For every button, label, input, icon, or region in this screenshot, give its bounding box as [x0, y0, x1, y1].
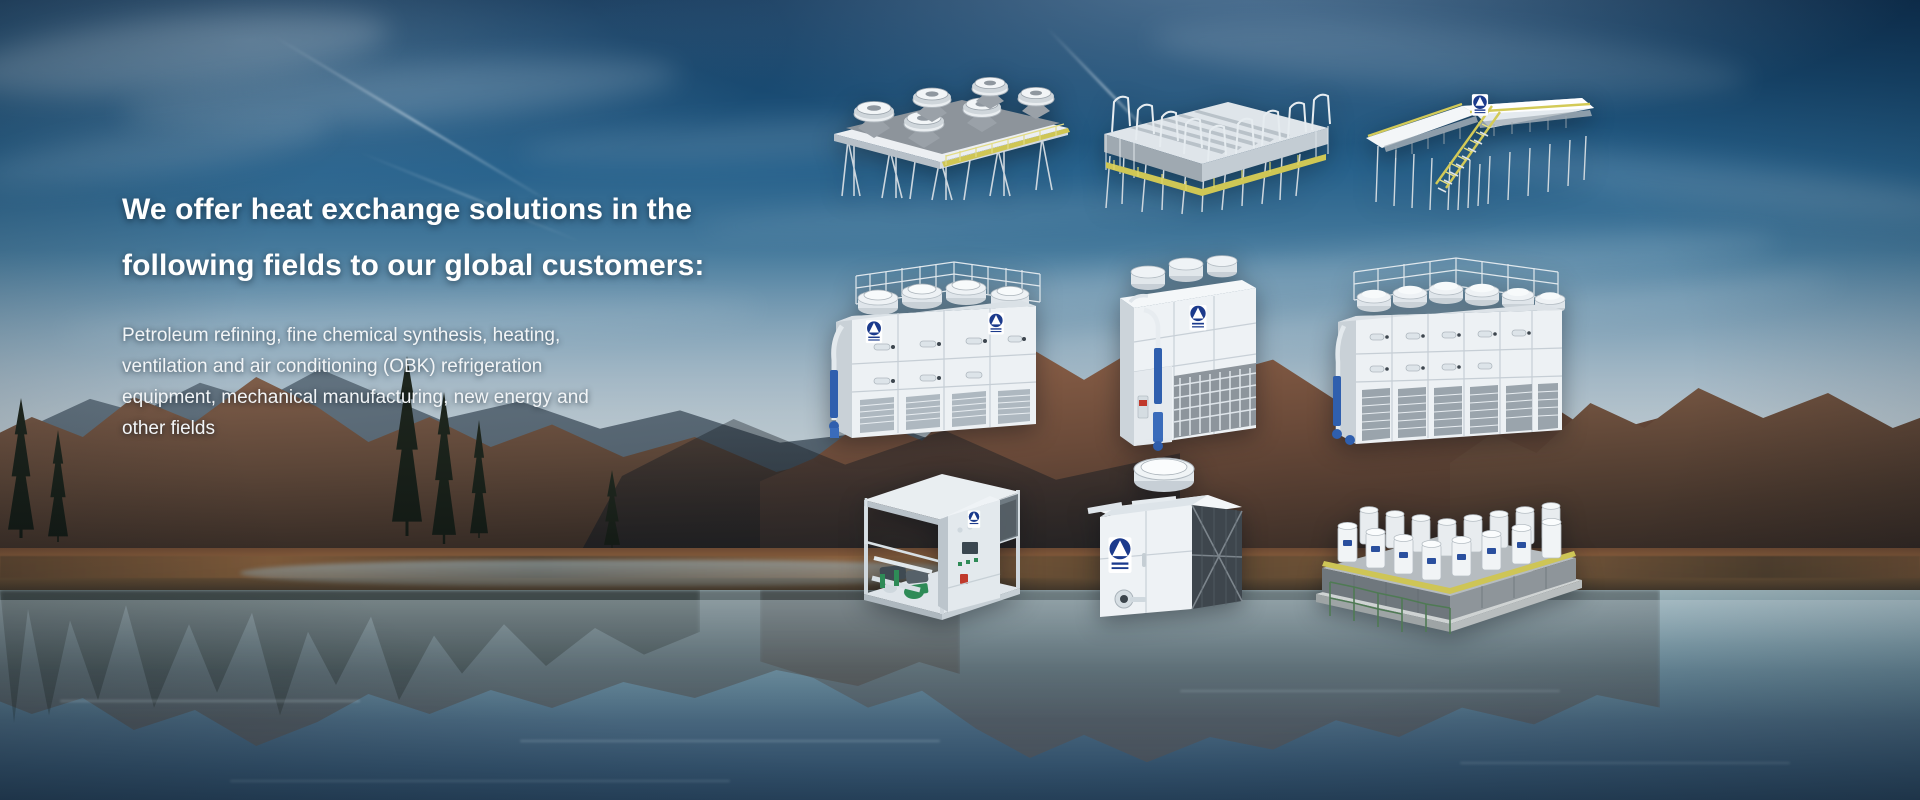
product-closed-circuit-cooling-tower-four-cell — [830, 260, 1060, 460]
company-badge-icon — [968, 511, 980, 528]
product-a-frame-air-cooled-condenser — [1350, 80, 1600, 210]
hero-banner: We offer heat exchange solutions in the … — [0, 0, 1920, 800]
product-single-cell-cooling-tower — [1080, 455, 1255, 630]
water-ripple — [520, 740, 940, 742]
headline: We offer heat exchange solutions in the … — [122, 182, 782, 294]
subcopy: Petroleum refining, fine chemical synthe… — [122, 320, 782, 444]
subcopy-line-1: Petroleum refining, fine chemical synthe… — [122, 320, 782, 351]
water-ripple — [60, 700, 360, 702]
hero-copy: We offer heat exchange solutions in the … — [122, 182, 782, 444]
product-image-grid — [980, 70, 1880, 730]
subcopy-line-3: equipment, mechanical manufacturing, new… — [122, 382, 782, 413]
company-badge-icon — [1472, 94, 1488, 116]
product-evaporative-condenser-compact — [1100, 250, 1270, 465]
product-skid-mounted-pump-station — [850, 470, 1030, 625]
subcopy-line-2: ventilation and air conditioning (OBK) r… — [122, 351, 782, 382]
headline-line-2: following fields to our global customers… — [122, 238, 782, 294]
water-ripple — [230, 780, 730, 782]
company-badge-icon — [1190, 305, 1207, 331]
company-badge-icon — [1108, 537, 1131, 573]
water-ripple — [1460, 762, 1790, 764]
product-field-erected-cooling-tower-array — [1310, 490, 1590, 635]
product-air-cooled-condenser-six-fan — [820, 70, 1080, 200]
company-badge-icon — [988, 313, 1004, 335]
product-air-cooled-heat-exchanger-bank — [1090, 84, 1340, 214]
headline-line-1: We offer heat exchange solutions in the — [122, 182, 782, 238]
product-closed-circuit-cooling-tower-six-cell — [1330, 258, 1580, 463]
company-badge-icon — [866, 320, 882, 343]
subcopy-line-4: other fields — [122, 413, 782, 444]
